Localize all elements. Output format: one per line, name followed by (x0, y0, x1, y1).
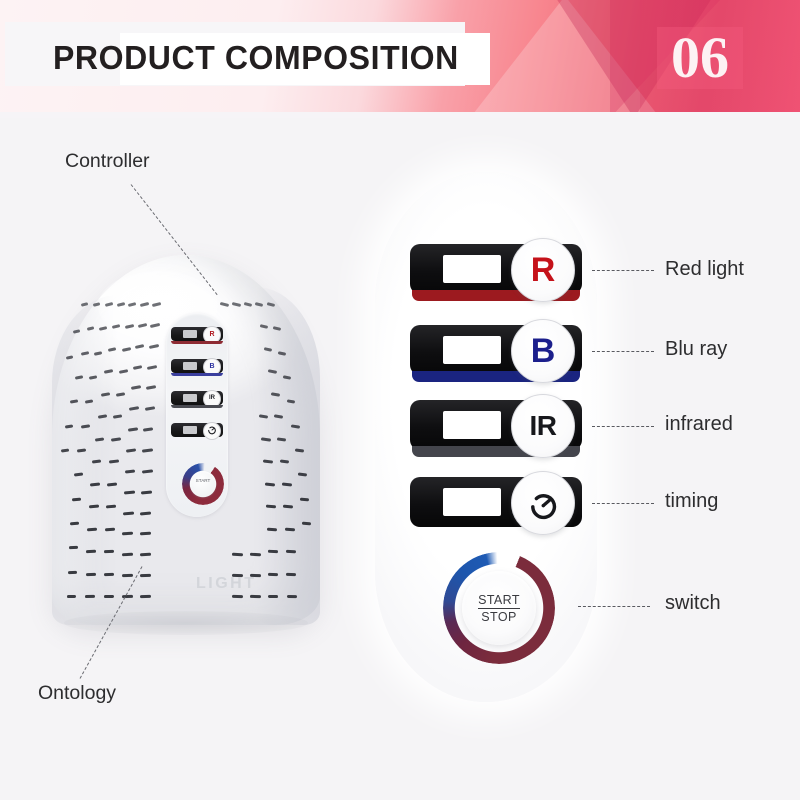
device-button-infrared[interactable]: IR (171, 391, 223, 405)
device-strip-red (171, 341, 223, 344)
button-display-window (443, 255, 501, 283)
control-button-red-light[interactable]: R (410, 244, 582, 294)
button-badge-ir: IR (511, 394, 575, 458)
header-underline (0, 112, 800, 118)
label-blu-ray: Blu ray (665, 338, 727, 361)
control-button-infrared[interactable]: IR (410, 400, 582, 450)
device-illustration: R B IR (28, 235, 348, 635)
dash-line-blu-ray (592, 351, 654, 352)
button-display-window (443, 336, 501, 364)
device-button-screen (183, 394, 197, 402)
device-badge-timer-icon (203, 422, 221, 440)
page-title: PRODUCT COMPOSITION (53, 36, 460, 80)
device-button-screen (183, 362, 197, 370)
dash-line-red-light (592, 270, 654, 271)
device-button-screen (183, 426, 197, 434)
control-button-timing[interactable] (410, 477, 582, 527)
device-button-screen (183, 330, 197, 338)
label-infrared: infrared (665, 413, 733, 436)
infographic-page: PRODUCT COMPOSITION 06 R B IR (0, 0, 800, 800)
device-button-blue[interactable]: B (171, 359, 223, 373)
section-number: 06 (657, 22, 743, 94)
dash-line-timing (592, 503, 654, 504)
callout-label-ontology: Ontology (38, 682, 116, 705)
dome-base-shadow (64, 611, 308, 635)
switch-start-label: START (478, 593, 520, 609)
label-red-light: Red light (665, 258, 744, 281)
switch-label-group: START STOP (462, 571, 536, 645)
device-button-timing[interactable] (171, 423, 223, 437)
page-header: PRODUCT COMPOSITION 06 (0, 0, 800, 112)
label-switch: switch (665, 592, 721, 615)
button-badge-b: B (511, 319, 575, 383)
device-switch-core: START (190, 471, 216, 497)
control-button-blu-ray[interactable]: B (410, 325, 582, 375)
start-stop-switch[interactable]: START STOP (443, 552, 555, 664)
button-badge-r: R (511, 238, 575, 302)
button-badge-timer-icon (511, 471, 575, 535)
device-brand-text: LIGHT (196, 575, 257, 593)
callout-label-controller: Controller (65, 150, 150, 173)
switch-stop-label: STOP (481, 609, 516, 624)
dash-line-infrared (592, 426, 654, 427)
dash-line-switch (578, 606, 650, 607)
button-display-window (443, 411, 501, 439)
device-button-red[interactable]: R (171, 327, 223, 341)
device-strip-blue (171, 373, 223, 376)
device-strip-ir (171, 405, 223, 408)
device-start-stop-switch[interactable]: START (182, 463, 224, 505)
device-switch-start: START (196, 478, 211, 483)
label-timing: timing (665, 490, 718, 513)
button-display-window (443, 488, 501, 516)
device-control-panel: R B IR (166, 313, 228, 517)
